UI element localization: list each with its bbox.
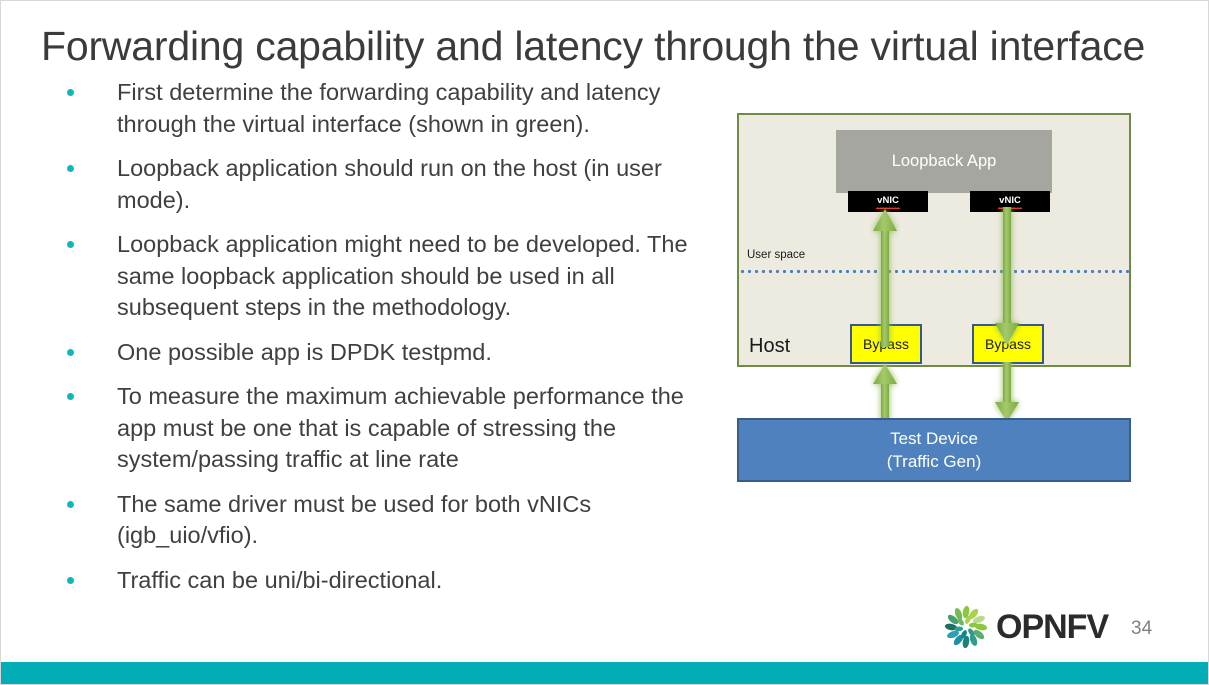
list-item: First determine the forwarding capabilit… [63, 77, 723, 140]
user-space-label: User space [747, 249, 805, 261]
test-device-line1: Test Device [890, 427, 978, 450]
list-item: Traffic can be uni/bi-directional. [63, 565, 723, 597]
bottom-accent-bar [1, 662, 1209, 684]
list-item-text: Loopback application might need to be de… [117, 231, 688, 320]
page-title: Forwarding capability and latency throug… [41, 21, 1151, 71]
opnfv-wordmark: OPNFV [996, 610, 1108, 644]
architecture-diagram: Loopback App vNIC vNIC User space Host B… [737, 113, 1131, 493]
list-item-text: To measure the maximum achievable perfor… [117, 383, 684, 472]
host-container: Loopback App vNIC vNIC User space Host B… [737, 113, 1131, 367]
arrow-down-vnic-right-icon [992, 207, 1022, 347]
opnfv-petal-burst-icon [942, 604, 990, 650]
bullet-dot-icon [67, 241, 74, 248]
user-kernel-divider [741, 270, 1131, 273]
bullet-dot-icon [67, 501, 74, 508]
list-item: Loopback application might need to be de… [63, 229, 723, 324]
bullet-dot-icon [67, 165, 74, 172]
bullet-dot-icon [67, 393, 74, 400]
opnfv-logo: OPNFV [942, 604, 1108, 650]
list-item: Loopback application should run on the h… [63, 153, 723, 216]
slide: Forwarding capability and latency throug… [0, 0, 1209, 685]
bullet-list: First determine the forwarding capabilit… [63, 77, 723, 596]
list-item: To measure the maximum achievable perfor… [63, 381, 723, 476]
loopback-app-box: Loopback App [836, 130, 1052, 193]
arrow-up-bypass-left-icon [870, 362, 900, 424]
loopback-app-label: Loopback App [892, 152, 997, 171]
list-item-text: Loopback application should run on the h… [117, 155, 662, 213]
bullet-dot-icon [67, 577, 74, 584]
arrow-down-bypass-right-icon [992, 362, 1022, 424]
arrow-up-vnic-left-icon [870, 207, 900, 347]
list-item: One possible app is DPDK testpmd. [63, 337, 723, 369]
list-item-text: First determine the forwarding capabilit… [117, 79, 660, 137]
bullet-dot-icon [67, 349, 74, 356]
test-device-box: Test Device (Traffic Gen) [737, 418, 1131, 482]
list-item: The same driver must be used for both vN… [63, 489, 723, 552]
list-item-text: One possible app is DPDK testpmd. [117, 339, 492, 365]
test-device-line2: (Traffic Gen) [887, 450, 981, 473]
bullet-dot-icon [67, 89, 74, 96]
page-number: 34 [1131, 618, 1152, 640]
list-item-text: The same driver must be used for both vN… [117, 491, 591, 549]
host-label: Host [749, 335, 790, 358]
list-item-text: Traffic can be uni/bi-directional. [117, 567, 442, 593]
